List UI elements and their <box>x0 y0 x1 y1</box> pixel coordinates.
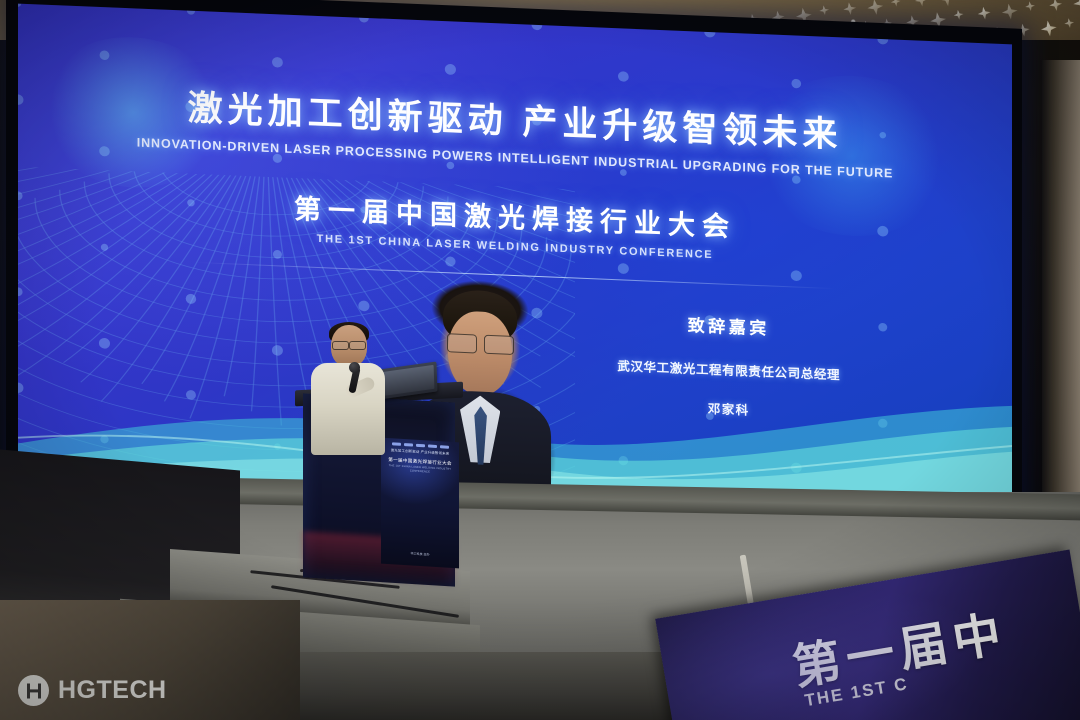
guest-role-label: 致辞嘉宾 <box>688 311 770 339</box>
guest-organization: 武汉华工激光工程有限责任公司总经理 <box>617 356 840 384</box>
microphone-head <box>349 362 360 373</box>
conference-stage-photo: 激光加工创新驱动 产业升级智领未来 INNOVATION-DRIVEN LASE… <box>0 0 1080 720</box>
guest-name: 邓家科 <box>708 398 750 419</box>
chandelier-crystal-icon <box>953 9 964 20</box>
title-divider-line <box>195 262 835 289</box>
chandelier-crystal-icon <box>842 1 857 16</box>
side-banner-text-cn: 第一届中 <box>787 594 1012 699</box>
side-banner-text-en: THE 1ST C <box>803 674 910 711</box>
chandelier-crystal-icon <box>819 5 830 16</box>
chandelier-crystal-icon <box>914 0 929 7</box>
chandelier-crystal-icon <box>1040 19 1058 37</box>
screen-text-block: 激光加工创新驱动 产业升级智领未来 INNOVATION-DRIVEN LASE… <box>18 4 1012 523</box>
hg-logo-icon <box>18 675 49 706</box>
speaker-shirt <box>311 363 385 455</box>
chandelier-crystal-icon <box>1072 0 1080 12</box>
chandelier-crystal-icon <box>866 0 884 16</box>
hgtech-brand-text: HGTECH <box>58 676 167 705</box>
chandelier-crystal-icon <box>1064 17 1075 28</box>
podium-branding-panel: 激光加工创新驱动 产业升级智领未来 第一届中国激光焊接行业大会 THE 1ST … <box>381 438 459 569</box>
chandelier-crystal-icon <box>1001 2 1019 20</box>
led-screen: 激光加工创新驱动 产业升级智领未来 INNOVATION-DRIVEN LASE… <box>18 4 1012 523</box>
speaker-glasses-icon <box>332 341 366 348</box>
chandelier-crystal-icon <box>938 0 956 8</box>
podium-panel-footer: 华工科技·主办 <box>381 550 459 560</box>
chandelier-crystal-icon <box>977 6 992 21</box>
chandelier-crystal-icon <box>1024 0 1035 11</box>
speaker-person <box>305 325 391 455</box>
hgtech-watermark: HGTECH <box>18 675 167 706</box>
chandelier-crystal-icon <box>1048 0 1063 12</box>
led-screen-frame: 激光加工创新驱动 产业升级智领未来 INNOVATION-DRIVEN LASE… <box>6 0 1022 537</box>
chandelier-crystal-icon <box>890 0 901 7</box>
